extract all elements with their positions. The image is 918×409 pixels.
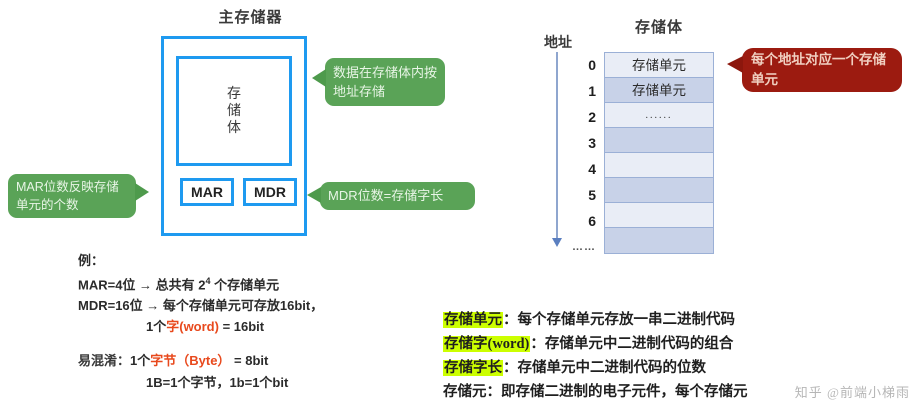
confuse-line-2: 1B=1个字节，1b=1个bit — [78, 372, 418, 394]
address-item: 2 — [566, 104, 596, 130]
legend-term: 存储单元 — [443, 312, 503, 328]
mdr-register-box: MDR — [243, 178, 297, 206]
address-item: 0 — [566, 52, 596, 78]
callout-mdr-bits-text: MDR位数=存储字长 — [328, 187, 467, 205]
callout-tail-icon — [312, 69, 326, 87]
address-item: …… — [566, 234, 596, 260]
storage-body-box: 存 储 体 — [176, 56, 292, 166]
example-text-block: 例： MAR=4位 → 总共有 24 个存储单元 MDR=16位 → 每个存储单… — [78, 250, 408, 337]
storage-body-char-2: 体 — [227, 120, 241, 137]
legend-row: 存储单元：每个存储单元存放一串二进制代码 — [443, 308, 913, 332]
legend-description: 存储单元中二进制代码的位数 — [518, 360, 707, 376]
legend-separator: ： — [503, 312, 518, 328]
example-mdr-line: MDR=16位 → 每个存储单元可存放16bit， — [78, 295, 408, 316]
legend-separator: ： — [487, 384, 502, 400]
address-item: 6 — [566, 208, 596, 234]
easily-confused-text-block: 易混淆：1个字节（Byte） = 8bit 1B=1个字节，1b=1个bit — [78, 350, 418, 394]
address-item: 5 — [566, 182, 596, 208]
address-item: 1 — [566, 78, 596, 104]
callout-mar-bits-text: MAR位数反映存储单元的个数 — [16, 178, 128, 214]
legend-term: 存储字长 — [443, 360, 503, 376]
example-mar-line: MAR=4位 → 总共有 24 个存储单元 — [78, 271, 408, 295]
storage-body-char-1: 储 — [227, 103, 241, 120]
callout-tail-icon — [727, 56, 743, 73]
address-column-label: 地址 — [534, 32, 582, 52]
memory-cell — [605, 178, 713, 203]
memory-cell: 存储单元 — [605, 53, 713, 78]
legend-description: 存储单元中二进制代码的组合 — [545, 336, 734, 352]
memory-cell: ...... — [605, 103, 713, 128]
mar-register-box: MAR — [180, 178, 234, 206]
example-heading: 例： — [78, 250, 408, 271]
confuse-label: 易混淆： — [78, 353, 130, 368]
address-direction-arrow-line — [556, 52, 558, 240]
callout-tail-icon — [307, 187, 321, 203]
callout-address-maps-cell: 每个地址对应一个存储单元 — [742, 48, 902, 92]
memory-cell — [605, 228, 713, 253]
example-word-highlight: 字(word) — [166, 319, 219, 334]
callout-mar-bits: MAR位数反映存储单元的个数 — [8, 174, 136, 218]
address-list: 0123456…… — [566, 52, 596, 260]
memory-cell: 存储单元 — [605, 78, 713, 103]
callout-mdr-bits: MDR位数=存储字长 — [320, 182, 475, 210]
address-item: 3 — [566, 130, 596, 156]
callout-address-maps-cell-text: 每个地址对应一个存储单元 — [751, 50, 893, 90]
legend-term: 存储元 — [443, 384, 487, 400]
legend-term: 存储字(word) — [443, 336, 530, 352]
memory-cell-table: 存储单元存储单元...... — [604, 52, 714, 254]
memory-cell — [605, 203, 713, 228]
example-word-prefix: 1个 — [146, 319, 166, 334]
confuse-byte-highlight: 字节（Byte） — [150, 353, 230, 368]
mdr-register-label: MDR — [254, 184, 286, 200]
confuse-byte-suffix: = 8bit — [230, 353, 268, 368]
callout-data-stored-by-address: 数据在存储体内按地址存储 — [325, 58, 445, 106]
example-word-suffix: = 16bit — [219, 319, 264, 334]
address-item: 4 — [566, 156, 596, 182]
callout-data-stored-by-address-text: 数据在存储体内按地址存储 — [333, 63, 437, 101]
mar-register-label: MAR — [191, 184, 223, 200]
legend-row: 存储字长：存储单元中二进制代码的位数 — [443, 356, 913, 380]
storage-body-vertical-label: 存 储 体 — [227, 86, 241, 137]
watermark: 知乎 @前端小梯雨 — [660, 382, 910, 401]
legend-separator: ： — [530, 336, 545, 352]
legend-description: 每个存储单元存放一串二进制代码 — [518, 312, 736, 328]
address-direction-arrow-icon — [552, 238, 562, 247]
storage-body-char-0: 存 — [227, 86, 241, 103]
example-word-line: 1个字(word) = 16bit — [78, 316, 408, 337]
example-mar-suffix: 个存储单元 — [211, 277, 280, 292]
memory-cell — [605, 153, 713, 178]
legend-row: 存储字(word)：存储单元中二进制代码的组合 — [443, 332, 913, 356]
main-memory-title: 主存储器 — [193, 6, 308, 27]
legend-separator: ： — [503, 360, 518, 376]
callout-tail-icon — [135, 183, 149, 201]
confuse-line-1: 易混淆：1个字节（Byte） = 8bit — [78, 350, 418, 372]
confuse-byte-prefix: 1个 — [130, 353, 150, 368]
example-mar-prefix: MAR=4位 → 总共有 2 — [78, 277, 206, 292]
memory-cell — [605, 128, 713, 153]
storage-body-column-label: 存储体 — [600, 16, 718, 37]
